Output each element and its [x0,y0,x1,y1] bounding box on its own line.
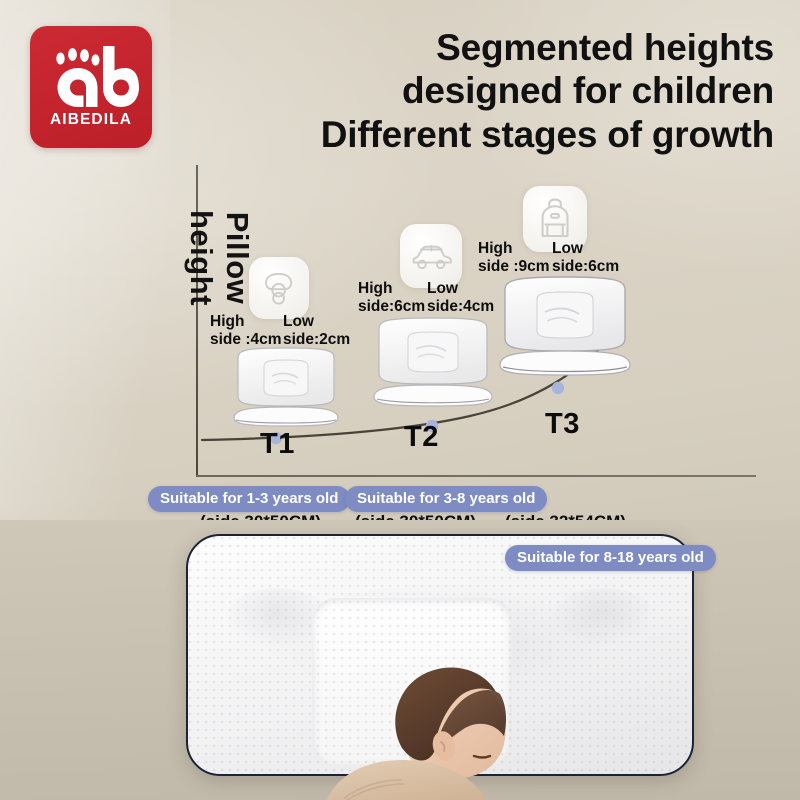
headline-line-1: Segmented heights [164,26,774,69]
x-tick-t2: T2 [404,421,439,454]
t2-low-spec: Low side:4cm [427,280,494,316]
t2-high-spec: High side:6cm [358,280,425,316]
headline-line-2: designed for children [164,69,774,112]
pacifier-icon [249,257,309,319]
pillow-wing-left [224,588,332,648]
paw-ab-monogram-icon [43,46,139,108]
data-point-t3 [552,382,564,394]
product-photo: Suitable for 8-18 years old [0,520,800,800]
badge-age-t1[interactable]: Suitable for 1-3 years old [148,486,350,512]
t2-low-label: Low [427,280,458,297]
toy-car-icon [400,224,462,288]
t2-high-label: High [358,280,392,297]
t3-high-value: side :9cm [478,258,550,276]
t2-high-value: side:6cm [358,298,425,316]
sleeping-child [324,648,574,800]
t2-pillow-side-view [368,380,498,410]
t3-pillow-top-view [495,275,635,353]
t2-low-value: side:4cm [427,298,494,316]
t2-pillow-top-view [370,316,496,386]
t1-low-spec: Low side:2cm [283,313,350,349]
t1-high-label: High [210,313,244,330]
t3-low-value: side:6cm [552,258,619,276]
page-title: Segmented heights designed for children … [164,26,774,156]
brand-logo: AIBEDILA [30,26,152,148]
x-tick-t3: T3 [545,408,580,441]
badge-age-t2[interactable]: Suitable for 3-8 years old [345,486,547,512]
t3-pillow-side-view [493,346,637,380]
t3-high-spec: High side :9cm [478,240,550,276]
pillow-height-chart: Pillow height High side :4cm Low side:2c… [0,150,800,490]
t3-high-label: High [478,240,512,257]
t1-low-label: Low [283,313,314,330]
x-tick-t1: T1 [260,428,295,461]
brand-name: AIBEDILA [50,111,132,129]
t1-pillow-side-view [228,402,344,430]
badge-age-hero[interactable]: Suitable for 8-18 years old [505,545,716,571]
t3-low-spec: Low side:6cm [552,240,619,276]
t3-low-label: Low [552,240,583,257]
pillow-wing-right [548,588,656,648]
t1-high-spec: High side :4cm [210,313,282,349]
t1-pillow-top-view [230,346,342,408]
